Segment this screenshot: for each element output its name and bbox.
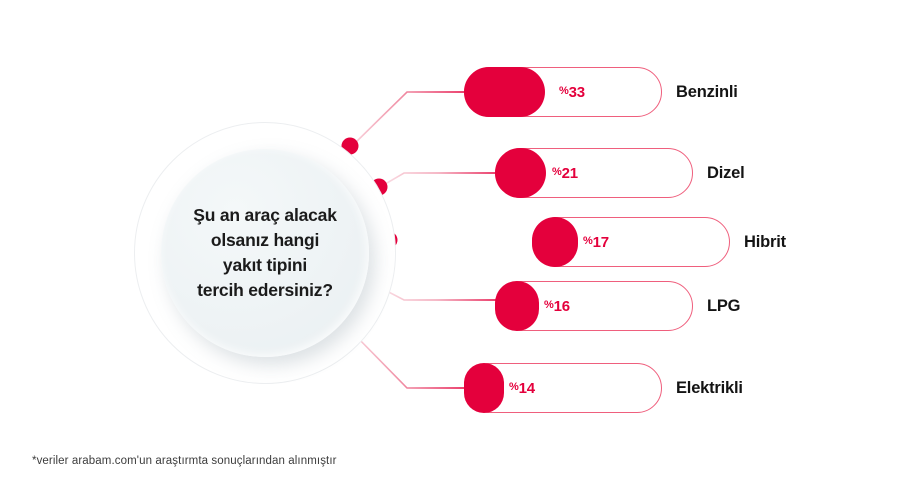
infographic-canvas: Şu an araç alacak olsanız hangi yakıt ti…	[0, 0, 900, 500]
question-line-2: olsanız hangi	[193, 228, 337, 253]
bar-fill-lpg	[495, 281, 539, 331]
percent-symbol: %	[559, 85, 569, 97]
connector-benzinli	[352, 92, 466, 146]
bar-row-benzinli: %33 Benzinli	[464, 67, 884, 117]
bar-value-benzinli: %33	[559, 67, 585, 117]
question-line-3: yakıt tipini	[193, 253, 337, 278]
bar-row-dizel: %21 Dizel	[495, 148, 895, 198]
connector-lpg	[379, 287, 497, 300]
bar-fill-hibrit	[532, 217, 578, 267]
source-footnote: *veriler arabam.com'un araştırmta sonuçl…	[32, 455, 337, 467]
bar-label-benzinli: Benzinli	[676, 67, 738, 117]
percent-number: 21	[562, 165, 578, 182]
question-line-1: Şu an araç alacak	[193, 203, 337, 228]
percent-number: 17	[593, 234, 609, 251]
percent-symbol: %	[544, 299, 554, 311]
bar-fill-benzinli	[464, 67, 545, 117]
bar-fill-elektrikli	[464, 363, 504, 413]
bar-row-elektrikli: %14 Elektrikli	[464, 363, 884, 413]
center-question: Şu an araç alacak olsanız hangi yakıt ti…	[161, 149, 369, 357]
percent-symbol: %	[583, 235, 593, 247]
bar-label-dizel: Dizel	[707, 148, 745, 198]
bar-value-hibrit: %17	[583, 217, 609, 267]
bar-label-hibrit: Hibrit	[744, 217, 786, 267]
percent-symbol: %	[552, 166, 562, 178]
bar-value-lpg: %16	[544, 281, 570, 331]
bar-label-lpg: LPG	[707, 281, 740, 331]
bar-row-hibrit: %17 Hibrit	[532, 217, 900, 267]
question-line-4: tercih edersiniz?	[193, 278, 337, 303]
bar-fill-dizel	[495, 148, 546, 198]
bar-value-dizel: %21	[552, 148, 578, 198]
bar-value-elektrikli: %14	[509, 363, 535, 413]
bar-label-elektrikli: Elektrikli	[676, 363, 743, 413]
connector-elektrikli	[352, 332, 466, 388]
percent-symbol: %	[509, 381, 519, 393]
percent-number: 14	[519, 380, 535, 397]
connector-dizel	[380, 173, 497, 187]
bar-row-lpg: %16 LPG	[495, 281, 895, 331]
percent-number: 33	[569, 84, 585, 101]
percent-number: 16	[554, 298, 570, 315]
